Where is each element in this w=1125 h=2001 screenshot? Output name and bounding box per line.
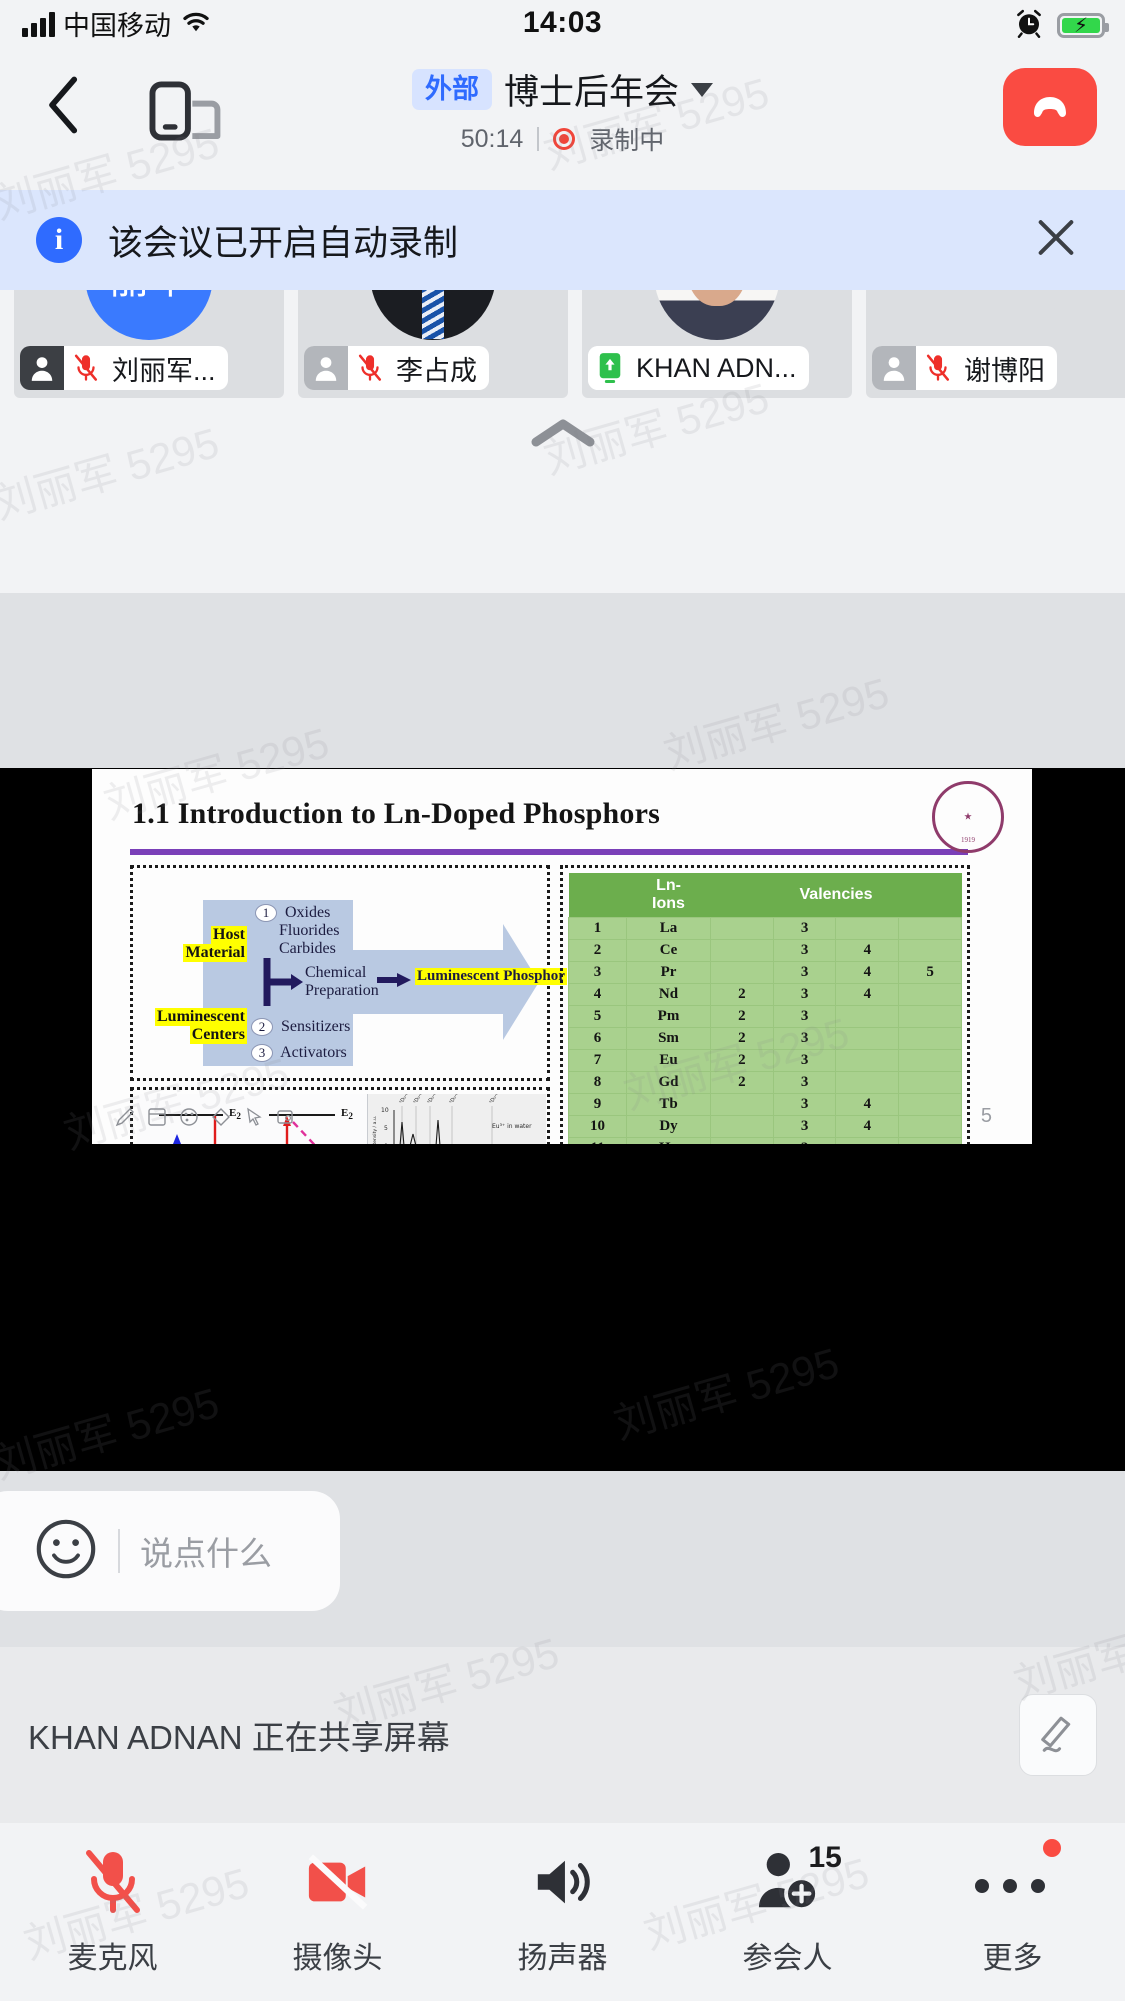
row-v5: 5 <box>899 962 962 984</box>
table-row: 5Pm23 <box>569 1006 962 1028</box>
participant-nametag: 刘丽军... <box>20 346 228 390</box>
annotate-button[interactable] <box>1019 1694 1097 1776</box>
chevron-up-icon <box>530 416 596 450</box>
meeting-header: 外部 博士后年会 50:14 录制中 <box>0 52 1125 156</box>
table-row: 1La3 <box>569 918 962 940</box>
row-v3: 3 <box>773 1028 836 1050</box>
toolbar-label: 更多 <box>983 1933 1043 1977</box>
row-v5 <box>899 1116 962 1138</box>
row-v3: 3 <box>773 1094 836 1116</box>
row-v3: 3 <box>773 1116 836 1138</box>
slide-title: 1.1 Introduction to Ln-Doped Phosphors <box>132 797 660 831</box>
toolbar-label: 麦克风 <box>68 1933 158 1977</box>
table-row: 4Nd234 <box>569 984 962 1006</box>
participant-name: 刘丽军... <box>108 349 228 388</box>
row-index: 5 <box>569 1006 627 1028</box>
auto-recording-notice: i 该会议已开启自动录制 <box>0 190 1125 290</box>
clock-label: 14:03 <box>0 6 1125 40</box>
speaker-icon <box>532 1845 594 1919</box>
svg-text:5: 5 <box>384 1125 388 1132</box>
process-item-1: 1 Oxides Fluorides Carbides <box>255 904 339 958</box>
toolbar-label: 摄像头 <box>293 1933 383 1977</box>
shared-slide[interactable]: 1.1 Introduction to Ln-Doped Phosphors ★… <box>92 769 1032 1144</box>
mic-off-icon <box>348 346 392 390</box>
row-index: 6 <box>569 1028 627 1050</box>
shape-icon[interactable] <box>274 1106 296 1128</box>
row-v2: 2 <box>711 1006 774 1028</box>
participant-nametag: KHAN ADN... <box>588 346 809 390</box>
participant-count-badge: 15 <box>809 1841 842 1875</box>
luminescent-phosphor-label: Luminescent Phosphor <box>415 968 567 985</box>
annotate-pen-icon <box>1035 1709 1081 1761</box>
notice-text: 该会议已开启自动录制 <box>108 215 458 266</box>
row-v5 <box>899 1138 962 1145</box>
svg-text:0: 0 <box>384 1143 388 1144</box>
nankai-university-logo-icon: ★ 1919 <box>932 781 1004 853</box>
chat-input-pill[interactable]: 说点什么 <box>0 1491 340 1611</box>
row-index: 8 <box>569 1072 627 1094</box>
row-v5 <box>899 984 962 1006</box>
recording-label: 录制中 <box>589 121 664 157</box>
eraser-icon[interactable] <box>210 1106 232 1128</box>
table-row: 11Ho3 <box>569 1138 962 1145</box>
meeting-toolbar: 麦克风 摄像头 扬声器 15 参会人 更多 <box>0 1823 1125 2001</box>
item1-line3: Carbides <box>279 940 336 957</box>
item1-line2: Fluorides <box>279 922 339 939</box>
slide-page-number: 5 <box>981 1105 992 1128</box>
row-v5 <box>899 1006 962 1028</box>
chat-bar: 说点什么 <box>0 1471 1125 1647</box>
row-v5 <box>899 918 962 940</box>
toolbar-more-button[interactable]: 更多 <box>900 1845 1125 1977</box>
row-v3: 3 <box>773 1138 836 1145</box>
row-v3: 3 <box>773 1072 836 1094</box>
row-v5 <box>899 1094 962 1116</box>
table-row: 6Sm23 <box>569 1028 962 1050</box>
meeting-title: 博士后年会 <box>504 64 679 115</box>
row-index: 3 <box>569 962 627 984</box>
close-icon <box>1033 215 1079 261</box>
person-icon <box>20 346 64 390</box>
row-ion: Sm <box>627 1028 711 1050</box>
table-row: 3Pr345 <box>569 962 962 984</box>
toolbar-label: 参会人 <box>743 1933 833 1977</box>
row-v3: 3 <box>773 1006 836 1028</box>
process-diagram: Host Material Luminescent Centers 1 Oxid… <box>133 868 547 1078</box>
row-v5 <box>899 940 962 962</box>
screen-share-icon <box>588 346 632 390</box>
row-v3: 3 <box>773 962 836 984</box>
row-index: 9 <box>569 1094 627 1116</box>
row-v2 <box>711 1138 774 1145</box>
row-ion: Nd <box>627 984 711 1006</box>
row-v4: 4 <box>836 1094 899 1116</box>
table-row: 8Gd23 <box>569 1072 962 1094</box>
row-ion: La <box>627 918 711 940</box>
row-v4: 4 <box>836 962 899 984</box>
row-v2 <box>711 918 774 940</box>
row-index: 1 <box>569 918 627 940</box>
row-index: 2 <box>569 940 627 962</box>
row-v2: 2 <box>711 984 774 1006</box>
emoji-smile-icon[interactable] <box>34 1517 98 1586</box>
chemical-preparation-label: Chemical Preparation <box>305 964 379 1000</box>
table-row: 10Dy34 <box>569 1116 962 1138</box>
slide-accent-rule <box>130 849 968 855</box>
external-badge: 外部 <box>412 69 492 111</box>
table-row: 9Tb34 <box>569 1094 962 1116</box>
recording-dot-icon <box>553 128 575 150</box>
branch-arrow-icon <box>261 956 307 1008</box>
meeting-screen: 中国移动 14:03 ⚡ 外部 <box>0 0 1125 2001</box>
level-label-e2: E2 <box>341 1107 353 1121</box>
toolbar-label: 扬声器 <box>518 1933 608 1977</box>
hangup-phone-icon <box>1024 87 1076 127</box>
chat-placeholder: 说点什么 <box>140 1527 272 1575</box>
row-v3: 3 <box>773 940 836 962</box>
row-ion: Dy <box>627 1116 711 1138</box>
toolbar-mic-button[interactable]: 麦克风 <box>0 1845 225 1977</box>
process-diagram-box: Host Material Luminescent Centers 1 Oxid… <box>130 865 550 1081</box>
table-header-row: Ln- Ions Valencies <box>569 873 962 918</box>
row-index: 11 <box>569 1138 627 1145</box>
row-v4 <box>836 918 899 940</box>
row-v2: 2 <box>711 1028 774 1050</box>
spectra-plot-icon: 1050 6040200 600650700 750800850 Eu³⁺ in… <box>368 1094 546 1144</box>
elapsed-time: 50:14 <box>461 125 524 154</box>
toolbar-camera-button[interactable]: 摄像头 <box>225 1845 450 1977</box>
participant-name: KHAN ADN... <box>632 353 809 384</box>
person-icon <box>872 346 916 390</box>
row-v4 <box>836 1028 899 1050</box>
row-v4 <box>836 1072 899 1094</box>
svg-text:Eu³⁺ in water: Eu³⁺ in water <box>492 1123 532 1130</box>
row-v5 <box>899 1028 962 1050</box>
row-v3: 3 <box>773 1050 836 1072</box>
meeting-title-block[interactable]: 外部 博士后年会 50:14 录制中 <box>0 64 1125 157</box>
person-icon <box>304 346 348 390</box>
info-icon: i <box>36 217 82 263</box>
row-v4 <box>836 1050 899 1072</box>
row-ion: Pr <box>627 962 711 984</box>
participant-name: 谢博阳 <box>960 349 1057 388</box>
mic-off-icon <box>64 346 108 390</box>
divider <box>537 127 539 151</box>
row-v2 <box>711 1094 774 1116</box>
row-v5 <box>899 1072 962 1094</box>
divider <box>118 1529 120 1573</box>
pointer-icon[interactable] <box>242 1106 264 1128</box>
row-v4: 4 <box>836 940 899 962</box>
row-ion: Tb <box>627 1094 711 1116</box>
alarm-clock-icon <box>1014 8 1044 43</box>
row-v4: 4 <box>836 1116 899 1138</box>
mic-off-icon <box>916 346 960 390</box>
participant-nametag: 李占成 <box>304 346 489 390</box>
row-index: 10 <box>569 1116 627 1138</box>
result-arrow-icon <box>377 972 411 988</box>
table-body: 1La32Ce343Pr3454Nd2345Pm236Sm237Eu238Gd2… <box>569 918 962 1145</box>
row-ion: Ce <box>627 940 711 962</box>
collapse-strip-button[interactable] <box>0 416 1125 450</box>
chevron-down-icon[interactable] <box>691 83 713 97</box>
process-item-2: 2 Sensitizers <box>251 1018 350 1036</box>
row-v2: 2 <box>711 1072 774 1094</box>
slide-annotation-tools[interactable] <box>114 1106 296 1128</box>
table-row: 7Eu23 <box>569 1050 962 1072</box>
svg-text:10: 10 <box>381 1107 389 1114</box>
toolbar-participants-button[interactable]: 15 参会人 <box>675 1845 900 1977</box>
row-v2 <box>711 962 774 984</box>
table-header-ln-ions: Ln- Ions <box>627 873 711 918</box>
share-status-bar: KHAN ADNAN 正在共享屏幕 <box>0 1647 1125 1823</box>
logo-year: 1919 <box>961 837 975 844</box>
meeting-subinfo: 50:14 录制中 <box>0 121 1125 157</box>
row-v3: 3 <box>773 918 836 940</box>
mic-off-icon <box>82 1845 144 1919</box>
add-person-icon: 15 <box>755 1845 821 1919</box>
palette-icon[interactable] <box>178 1106 200 1128</box>
row-index: 7 <box>569 1050 627 1072</box>
participant-nametag: 谢博阳 <box>872 346 1057 390</box>
row-index: 4 <box>569 984 627 1006</box>
spectra-figure: 1050 6040200 600650700 750800850 Eu³⁺ in… <box>367 1094 543 1144</box>
pen-icon[interactable] <box>114 1106 136 1128</box>
toolbar-speaker-button[interactable]: 扬声器 <box>450 1845 675 1977</box>
table-row: 2Ce34 <box>569 940 962 962</box>
table-header-index <box>569 873 627 918</box>
row-v2: 2 <box>711 1050 774 1072</box>
row-ion: Gd <box>627 1072 711 1094</box>
close-notice-button[interactable] <box>1033 215 1079 266</box>
host-material-label: Host Material <box>161 926 247 962</box>
process-item-3: 3 Activators <box>251 1044 347 1062</box>
row-v4: 4 <box>836 984 899 1006</box>
row-v4 <box>836 1138 899 1145</box>
row-v2 <box>711 1116 774 1138</box>
participant-name: 李占成 <box>392 349 489 388</box>
row-v4 <box>836 1006 899 1028</box>
status-bar-right: ⚡ <box>1014 8 1105 43</box>
svg-text:relative photoluminescence int: relative photoluminescence intensity / a… <box>372 1116 378 1144</box>
row-ion: Eu <box>627 1050 711 1072</box>
row-v2 <box>711 940 774 962</box>
row-v3: 3 <box>773 984 836 1006</box>
item1-line1: Oxides <box>285 904 330 921</box>
ln-ions-valencies-table: Ln- Ions Valencies 1La32Ce343Pr3454Nd234… <box>568 873 962 1144</box>
luminescent-centers-label: Luminescent Centers <box>147 1008 247 1044</box>
note-icon[interactable] <box>146 1106 168 1128</box>
row-ion: Pm <box>627 1006 711 1028</box>
status-bar: 中国移动 14:03 ⚡ <box>0 0 1125 52</box>
battery-charging-icon: ⚡ <box>1057 13 1105 38</box>
hangup-button[interactable] <box>1003 68 1097 146</box>
camera-off-icon <box>305 1845 371 1919</box>
row-v5 <box>899 1050 962 1072</box>
more-dots-icon <box>965 1845 1061 1919</box>
share-status-text: KHAN ADNAN 正在共享屏幕 <box>28 1711 450 1759</box>
table-header-valencies: Valencies <box>711 873 962 918</box>
notification-dot <box>1043 1839 1061 1857</box>
row-ion: Ho <box>627 1138 711 1145</box>
